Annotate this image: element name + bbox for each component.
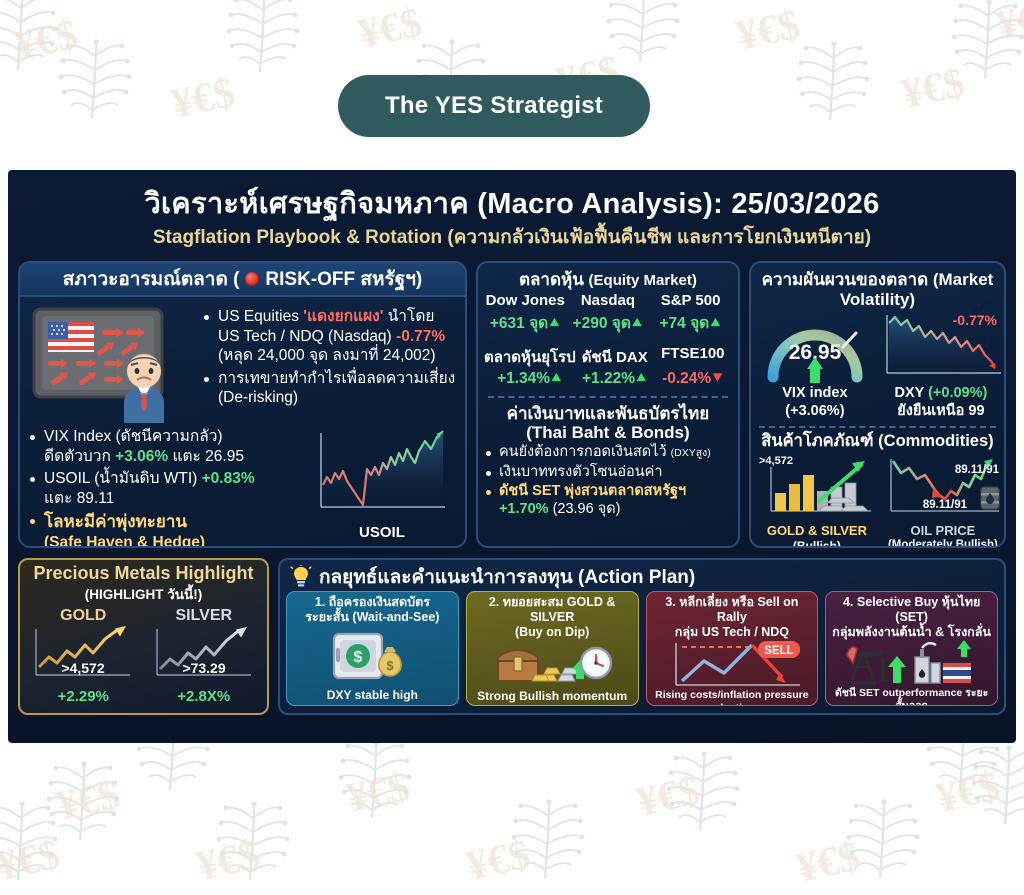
- volatility-title: ความผันผวนของตลาด (Market Volatility): [757, 270, 998, 309]
- bullet4-line1a: USOIL (น้ำมันดิบ WTI): [44, 470, 202, 487]
- baht-b3-line1: ดัชนี SET พุ่งสวนตลาดสหรัฐฯ: [499, 483, 686, 499]
- card-volatility-and-commodities: ความผันผวนของตลาด (Market Volatility): [749, 261, 1006, 548]
- silver-label: SILVER: [147, 607, 262, 625]
- gold-silver-caption: GOLD & SILVER: [757, 523, 877, 539]
- baht-b3-line2a: +1.70%: [499, 501, 549, 517]
- section-divider: [759, 426, 996, 428]
- action-card-4-foot: ดัชนี SET outperformance ระยะสั้นออก Ene…: [830, 687, 993, 706]
- section-divider: [488, 396, 728, 398]
- equity-table: Dow Jones Nasdaq S&P 500 +631 จุด⯅ +290 …: [484, 292, 732, 335]
- sentiment-header-en: RISK-OFF สหรัฐฯ): [265, 264, 422, 294]
- oil-pump-and-refinery-icon: [837, 639, 987, 687]
- baht-b3-line2b: (23.96 จุด): [549, 501, 621, 517]
- bottom-row: Precious Metals Highlight (HIGHLIGHT วัน…: [18, 558, 1006, 715]
- bullet4-line2: แตะ 89.11: [44, 490, 114, 507]
- equity-value-5: -0.24%⯆: [654, 370, 732, 388]
- equity-title-th: ตลาดหุ้น: [519, 270, 589, 289]
- baht-b1: คนยังต้องการกอดเงินสดไว้: [499, 444, 671, 460]
- oil-caption: OIL PRICE: [881, 523, 1005, 539]
- action-card-4-head: 4. Selective Buy หุ้นไทย (SET) กลุ่มพลัง…: [830, 595, 993, 639]
- metals-subtitle: (HIGHLIGHT วันนี้!): [26, 583, 261, 605]
- bullet3-line2b: +3.06%: [115, 448, 168, 465]
- equity-name-0: Dow Jones: [484, 292, 567, 309]
- metal-gold: GOLD >4,572 +2: [26, 607, 141, 705]
- main-cards-row: สภาวะอารมณ์ตลาด ( RISK-OFF สหรัฐฯ): [18, 261, 1006, 548]
- equity-name-5: FTSE100: [654, 345, 732, 369]
- gold-pct: +2.29%: [26, 688, 141, 705]
- gold-value-text: >4,572: [61, 660, 104, 676]
- bullet2-line2: (De-risking): [218, 389, 298, 406]
- equity-name-4: ดัชนี DAX: [576, 345, 654, 369]
- thai-baht-bullets: คนยังต้องการกอดเงินสดไว้ (DXYสูง) เงินบา…: [484, 444, 732, 519]
- commodities-row: >4,572: [757, 453, 998, 548]
- page-title: วิเคราะห์เศรษฐกิจมหภาค (Macro Analysis):…: [18, 188, 1006, 221]
- bullet1-p2: นำโดย: [383, 308, 434, 325]
- card-action-plan: กลยุทธ์และคำแนะนำการลงทุน (Action Plan) …: [278, 558, 1006, 715]
- action-card-1-head: 1. ถือครองเงินสดบัตร ระยะสั้น (Wait-and-…: [305, 595, 439, 625]
- silver-mini-chart: >73.29: [147, 625, 259, 687]
- vix-change: (+3.06%): [757, 403, 873, 420]
- action-card-1-foot: DXY stable high: [327, 688, 418, 702]
- dxy-label: DXY (+0.09%): [877, 385, 1005, 402]
- card-equity-and-baht: ตลาดหุ้น (Equity Market) Dow Jones Nasda…: [476, 261, 740, 548]
- oil-top-label: 89.11/91: [955, 464, 1000, 476]
- volatility-row: 26.95 VIX index (+3.06%): [757, 311, 998, 420]
- action-card-2[interactable]: 2. ทยอยสะสม GOLD & SILVER (Buy on Dip): [466, 591, 639, 706]
- action-card-2-head: 2. ทยอยสะสม GOLD & SILVER (Buy on Dip): [471, 595, 634, 639]
- brand-badge: The YES Strategist: [338, 75, 650, 137]
- action-plan-header-label: กลยุทธ์และคำแนะนำการลงทุน (Action Plan): [319, 562, 695, 592]
- list-item: ดัชนี SET พุ่งสวนตลาดสหรัฐฯ +1.70% (23.9…: [484, 483, 732, 518]
- brand-badge-label: The YES Strategist: [385, 92, 603, 120]
- equity-market-title: ตลาดหุ้น (Equity Market): [484, 270, 732, 290]
- equity-title-en: (Equity Market): [589, 272, 697, 289]
- action-card-3[interactable]: 3. หลีกเลี่ยง หรือ Sell on Rally กลุ่ม U…: [646, 591, 819, 706]
- action-plan-cards: 1. ถือครองเงินสดบัตร ระยะสั้น (Wait-and-…: [286, 591, 998, 706]
- bullet5-line2: (Safe Haven & Hedge): [44, 534, 205, 548]
- arrow-up-icon: ⯅: [709, 315, 721, 332]
- arrow-up-icon: ⯅: [635, 370, 647, 387]
- equity-value-1: +290 จุด⯅: [567, 310, 650, 335]
- list-item: คนยังต้องการกอดเงินสดไว้ (DXYสูง): [484, 444, 732, 462]
- bullet3-line1: VIX Index (ดัชนีความกลัว): [44, 428, 223, 445]
- vol-title-line2: Volatility): [840, 290, 915, 309]
- dxy-chart: -0.77% DXY (+0.09%) ยังยืนเหนือ 99: [877, 311, 1005, 420]
- red-circle-icon: [245, 272, 259, 286]
- vix-label: VIX index: [757, 385, 873, 402]
- list-item: การเทขายทำกำไรเพื่อลดความเสี่ยง (De-risk…: [202, 369, 457, 408]
- list-item: โลหะมีค่าพุ่งทะยาน (Safe Haven & Hedge): [28, 511, 301, 548]
- svg-text:$: $: [354, 649, 363, 666]
- card-market-sentiment: สภาวะอารมณ์ตลาด ( RISK-OFF สหรัฐฯ): [18, 261, 467, 548]
- vix-gauge: 26.95 VIX index (+3.06%): [757, 311, 873, 420]
- safe-and-moneybag-icon: $ $: [324, 625, 420, 688]
- equity-name-3: ตลาดหุ้นยุโรป: [484, 345, 576, 369]
- gold-label: GOLD: [26, 607, 141, 625]
- bullet1-red: 'แดงยกแผง': [303, 308, 383, 325]
- equity-name-1: Nasdaq: [567, 292, 650, 309]
- commodities-title-th: สินค้าโภคภัณฑ์: [761, 432, 878, 450]
- treasure-chest-and-clock-icon: [492, 639, 612, 689]
- metal-silver: SILVER >73.29: [147, 607, 262, 705]
- gold-axis-label: >4,572: [759, 455, 793, 467]
- silver-pct: +2.8X%: [147, 688, 262, 705]
- metals-title: Precious Metals Highlight: [26, 564, 261, 583]
- equity-name-2: S&P 500: [649, 292, 732, 309]
- commodities-title-en: (Commodities): [878, 432, 994, 450]
- bullet1-line3: (หลุด 24,000 จุด ลงมาที่ 24,002): [218, 347, 436, 364]
- card-market-sentiment-header: สภาวะอารมณ์ตลาด ( RISK-OFF สหรัฐฯ): [20, 263, 465, 297]
- bullet1-line2a: US Tech / NDQ (Nasdaq): [218, 328, 396, 345]
- bullet3-line2a: ดีดตัวบวก: [44, 448, 115, 465]
- dxy-sub: ยังยืนเหนือ 99: [877, 403, 1005, 420]
- gold-silver-sub: (Bullish): [757, 539, 877, 549]
- action-card-1[interactable]: 1. ถือครองเงินสดบัตร ระยะสั้น (Wait-and-…: [286, 591, 459, 706]
- arrow-down-icon: ⯆: [711, 370, 723, 387]
- gold-mini-chart: >4,572: [26, 625, 138, 687]
- bullet4-line1b: +0.83%: [202, 470, 255, 487]
- baht-b2: เงินบาททรงตัวโซนอ่อนค่า: [499, 464, 663, 480]
- page-subtitle: Stagflation Playbook & Rotation (ความกลั…: [18, 227, 1006, 249]
- list-item: VIX Index (ดัชนีความกลัว) ดีดตัวบวก +3.0…: [28, 427, 301, 466]
- action-card-3-head: 3. หลีกเลี่ยง หรือ Sell on Rally กลุ่ม U…: [651, 595, 814, 639]
- card-market-sentiment-body: US Equities 'แดงยกแผง' นำโดย US Tech / N…: [20, 297, 465, 546]
- silver-value-text: >73.29: [182, 660, 225, 676]
- equity-value-0: +631 จุด⯅: [484, 310, 567, 335]
- action-card-4[interactable]: 4. Selective Buy หุ้นไทย (SET) กลุ่มพลัง…: [825, 591, 998, 706]
- oil-price-chart: 89.11/91 89.11/91 OIL PRICE (Moderately …: [881, 453, 1005, 548]
- thai-baht-title: ค่าเงินบาทและพันธบัตรไทย (Thai Baht & Bo…: [484, 404, 732, 443]
- arrow-up-icon: ⯅: [548, 315, 560, 332]
- vol-title-line1: ความผันผวนของตลาด (Market: [762, 270, 994, 289]
- sentiment-header-th: สภาวะอารมณ์ตลาด (: [63, 264, 240, 294]
- action-card-3-foot: Rising costs/inflation pressure valuatio…: [651, 689, 814, 706]
- bullet3-line2c: แตะ 26.95: [168, 448, 244, 465]
- action-card-2-foot: Strong Bullish momentum Wait for 1H/4H r…: [477, 689, 627, 706]
- bullet1-p1: US Equities: [218, 308, 303, 325]
- lightbulb-icon: [290, 565, 312, 589]
- list-item: US Equities 'แดงยกแผง' นำโดย US Tech / N…: [202, 307, 457, 366]
- bullet1-line2b: -0.77%: [396, 328, 445, 345]
- baht-title-en: (Thai Baht & Bonds): [526, 423, 689, 442]
- svg-text:$: $: [387, 658, 395, 673]
- oil-barrel-icon: [981, 487, 999, 509]
- sell-badge-text: SELL: [764, 645, 793, 657]
- usoil-chart-caption: USOIL: [307, 524, 457, 541]
- bullet2-line1: การเทขายทำกำไรเพื่อลดความเสี่ยง: [218, 370, 455, 387]
- oil-mid-label: 89.11/91: [923, 499, 968, 511]
- equity-value-2: +74 จุด⯅: [649, 310, 732, 335]
- equity-table-europe: ตลาดหุ้นยุโรป ดัชนี DAX FTSE100 +1.34%⯅ …: [484, 345, 732, 388]
- action-plan-header: กลยุทธ์และคำแนะนำการลงทุน (Action Plan): [286, 563, 998, 591]
- arrow-up-icon: ⯅: [550, 370, 562, 387]
- oil-sub: (Moderately Bullish): [881, 539, 1005, 549]
- bullet5-line1: โลหะมีค่าพุ่งทะยาน: [44, 512, 187, 531]
- sell-on-rally-chart: SELL: [652, 639, 812, 689]
- list-item: USOIL (น้ำมันดิบ WTI) +0.83% แตะ 89.11: [28, 469, 301, 508]
- list-item: เงินบาททรงตัวโซนอ่อนค่า: [484, 464, 732, 482]
- card-precious-metals: Precious Metals Highlight (HIGHLIGHT วัน…: [18, 558, 269, 715]
- equity-value-3: +1.34%⯅: [484, 370, 576, 388]
- baht-b1-small: (DXYสูง): [671, 447, 711, 459]
- equity-value-4: +1.22%⯅: [576, 370, 654, 388]
- commodities-title: สินค้าโภคภัณฑ์ (Commodities): [757, 432, 998, 451]
- sentiment-bullets-lower: VIX Index (ดัชนีความกลัว) ดีดตัวบวก +3.0…: [28, 427, 301, 548]
- macro-analysis-poster: วิเคราะห์เศรษฐกิจมหภาค (Macro Analysis):…: [8, 170, 1016, 743]
- sentiment-bullets-top: US Equities 'แดงยกแผง' นำโดย US Tech / N…: [202, 307, 457, 408]
- metals-grid: GOLD >4,572 +2: [26, 607, 261, 705]
- baht-title-th: ค่าเงินบาทและพันธบัตรไทย: [507, 404, 710, 423]
- usoil-chart: USOIL: [307, 427, 457, 548]
- dxy-badge-text: -0.77%: [953, 312, 998, 328]
- gold-silver-chart: >4,572: [757, 453, 877, 548]
- risk-off-illustration: [28, 303, 196, 423]
- arrow-up-icon: ⯅: [631, 315, 643, 332]
